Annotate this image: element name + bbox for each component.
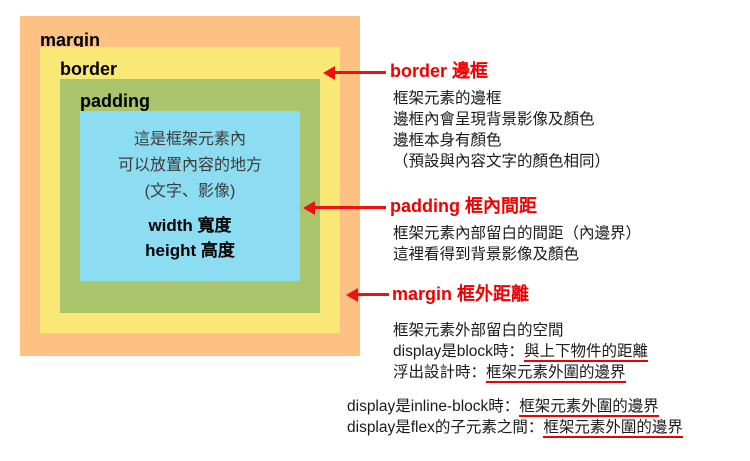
margin-rule-prefix: display是inline-block時： [347,398,519,415]
content-text-line: (文字、影像) [145,179,236,205]
padding-body-line: 這裡看得到背景影像及顏色 [393,244,641,265]
margin-rule-line: display是block時：與上下物件的距離 [393,341,648,362]
margin-rule-prefix: 浮出設計時： [393,364,486,381]
margin-body-line: 框架元素外部留白的空間 [393,320,648,341]
border-body-line: （預設與內容文字的顏色相同） [393,151,610,172]
margin-rule-emphasis: 框架元素外圍的邊界 [519,398,659,417]
border-body-line: 邊框內會呈現背景影像及顏色 [393,109,610,130]
content-text-line: 可以放置內容的地方 [118,153,262,179]
box-model-diagram: margin border padding 這是框架元素內 可以放置內容的地方 … [20,16,360,356]
margin-rule-line: display是inline-block時：框架元素外圍的邊界 [347,396,683,417]
arrow-head-icon [303,201,315,215]
content-layer: 這是框架元素內 可以放置內容的地方 (文字、影像) width 寬度 heigh… [80,111,300,281]
margin-callout-body: 框架元素外部留白的空間 display是block時：與上下物件的距離 浮出設計… [393,320,648,383]
margin-callout-arrow [357,293,389,296]
margin-rule-emphasis: 框架元素外圍的邊界 [543,419,683,438]
border-layer: border padding 這是框架元素內 可以放置內容的地方 (文字、影像)… [40,47,340,333]
padding-layer-label: padding [80,91,150,111]
padding-layer: padding 這是框架元素內 可以放置內容的地方 (文字、影像) width … [60,79,320,313]
content-text-line: 這是框架元素內 [134,127,246,153]
margin-rule-prefix: display是block時： [393,343,524,360]
padding-callout-heading: padding 框內間距 [390,196,537,216]
border-body-line: 邊框本身有顏色 [393,130,610,151]
padding-callout-body: 框架元素內部留白的間距（內邊界） 這裡看得到背景影像及顏色 [393,223,641,265]
content-width-label: width 寬度 [148,213,231,238]
arrow-head-icon [323,66,335,80]
arrow-head-icon [346,288,358,302]
content-height-label: height 高度 [145,238,235,263]
margin-rule-emphasis: 與上下物件的距離 [524,343,648,362]
margin-callout-body-wide: display是inline-block時：框架元素外圍的邊界 display是… [347,396,683,438]
border-layer-label: border [60,59,117,79]
padding-body-line: 框架元素內部留白的間距（內邊界） [393,223,641,244]
padding-callout-arrow [314,206,386,209]
border-callout-arrow [334,71,386,74]
margin-rule-line: 浮出設計時：框架元素外圍的邊界 [393,362,648,383]
margin-callout-heading: margin 框外距離 [392,284,529,304]
border-body-line: 框架元素的邊框 [393,88,610,109]
margin-rule-line: display是flex的子元素之間：框架元素外圍的邊界 [347,417,683,438]
border-callout-body: 框架元素的邊框 邊框內會呈現背景影像及顏色 邊框本身有顏色 （預設與內容文字的顏… [393,88,610,172]
margin-layer: margin border padding 這是框架元素內 可以放置內容的地方 … [20,16,360,356]
margin-rule-emphasis: 框架元素外圍的邊界 [486,364,626,383]
margin-rule-prefix: display是flex的子元素之間： [347,419,543,436]
border-callout-heading: border 邊框 [390,61,488,81]
